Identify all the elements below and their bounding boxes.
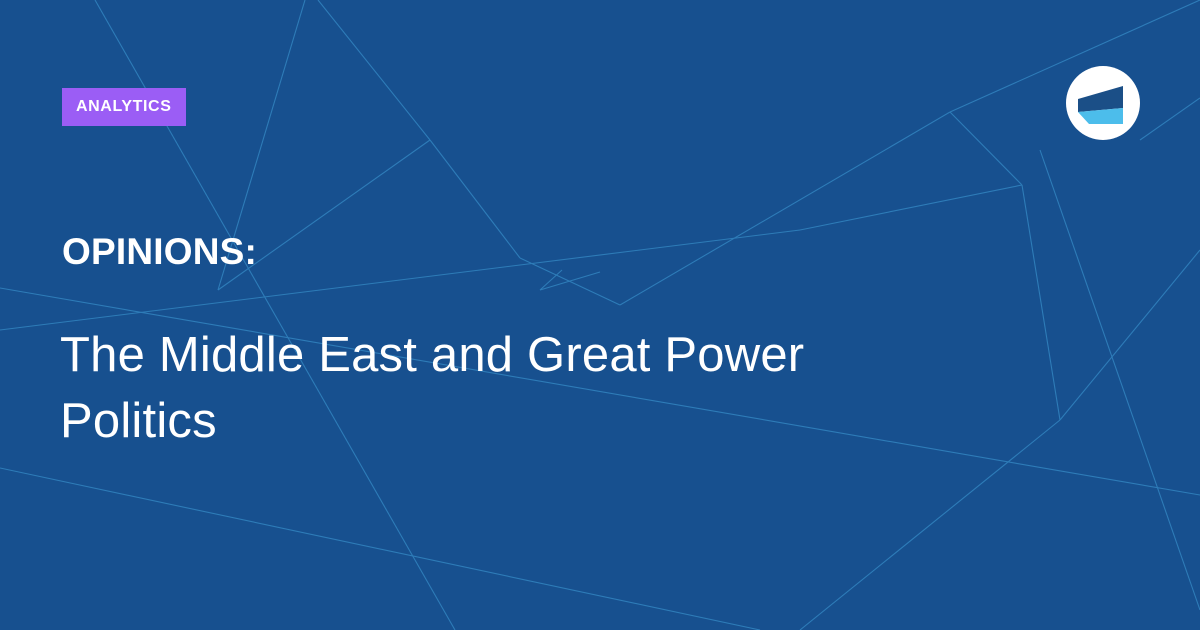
background-line-6 [620, 112, 950, 305]
background-line-5 [520, 258, 620, 305]
page-title: The Middle East and Great Power Politics [60, 322, 920, 454]
background-line-19 [1040, 150, 1200, 610]
background-line-16 [540, 272, 600, 290]
logo-mark-icon [1066, 66, 1140, 140]
social-share-card: ANALYTICS OPINIONS: The Middle East and … [0, 0, 1200, 630]
brand-logo[interactable] [1066, 66, 1140, 140]
background-line-9 [800, 185, 1022, 230]
background-line-15 [540, 270, 562, 290]
background-line-8 [950, 112, 1022, 185]
background-line-11 [1022, 185, 1060, 420]
kicker-label: OPINIONS: [62, 232, 257, 273]
background-line-18 [1140, 98, 1200, 140]
category-badge[interactable]: ANALYTICS [62, 88, 186, 126]
background-line-4 [430, 140, 520, 258]
background-line-17 [0, 468, 760, 630]
background-line-3 [318, 0, 430, 140]
background-line-12 [1060, 250, 1200, 420]
category-badge-label: ANALYTICS [76, 99, 172, 115]
